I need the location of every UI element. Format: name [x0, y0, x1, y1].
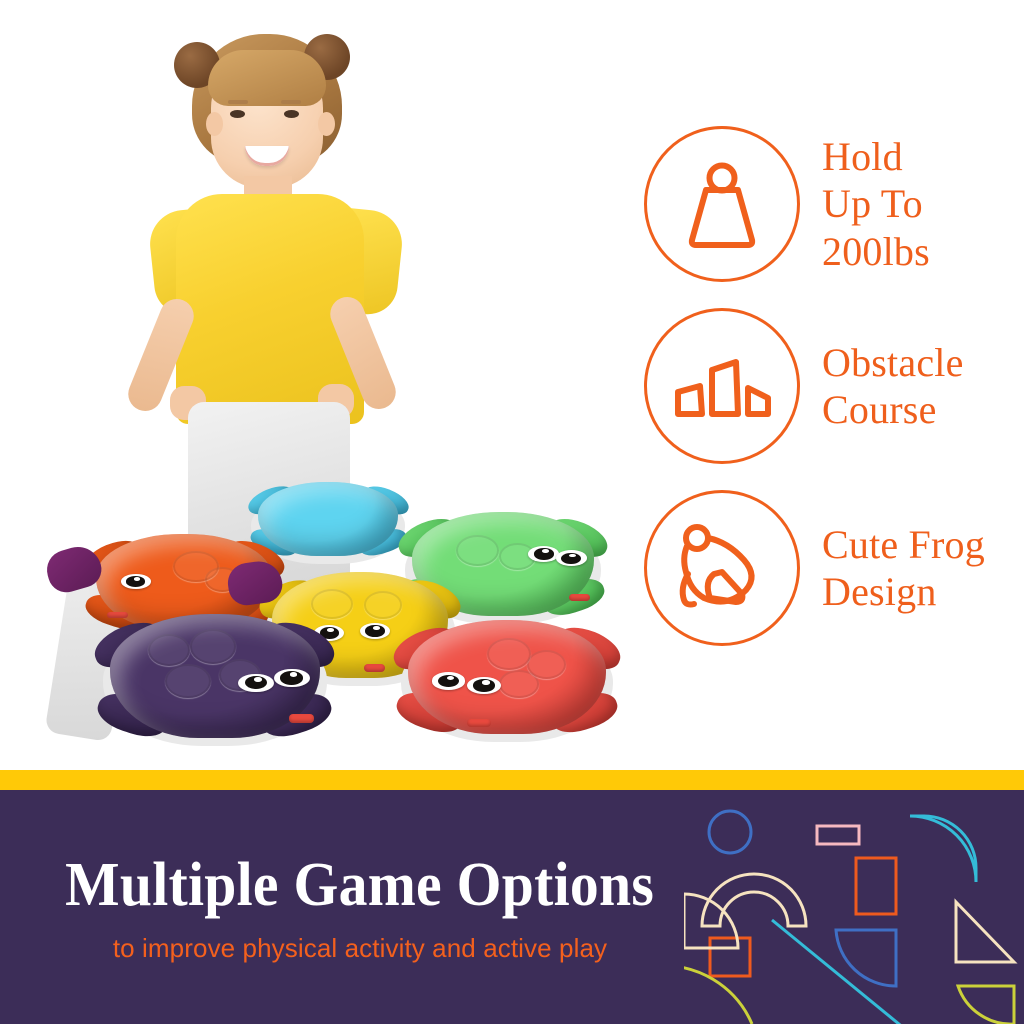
- rect-orange-icon: [856, 858, 896, 914]
- stepping-stone-red-frog: [408, 620, 606, 734]
- small-rect-pink-icon: [817, 826, 859, 844]
- feature-icon-circle: [644, 126, 800, 282]
- banner-text-block: Multiple Game Options to improve physica…: [0, 790, 720, 1024]
- feature-text-frog-design: Cute Frog Design: [822, 521, 985, 615]
- feature-line: Hold: [822, 133, 930, 180]
- yellow-divider-stripe: [0, 770, 1024, 790]
- decorative-shapes: [684, 790, 1024, 1024]
- frog-eye: [556, 550, 587, 566]
- frog-eye: [360, 623, 390, 639]
- diagonal-line-cyan-icon: [772, 920, 916, 1024]
- feature-item-obstacle: Obstacle Course: [644, 308, 1024, 464]
- product-feature-graphic: Hold Up To 200lbs Obstacle Course: [0, 0, 1024, 1024]
- quarter-circle-cream-icon: [956, 902, 1014, 962]
- frog-tongue: [467, 719, 491, 727]
- product-photo-area: Hold Up To 200lbs Obstacle Course: [0, 0, 1024, 770]
- obstacle-blocks-icon: [670, 334, 774, 438]
- feature-list: Hold Up To 200lbs Obstacle Course: [644, 126, 1024, 672]
- banner-subtitle: to improve physical activity and active …: [113, 933, 607, 964]
- frog-tongue: [364, 664, 385, 671]
- eyebrow-right: [281, 100, 301, 104]
- frog-eye: [467, 677, 501, 694]
- quarter-circle-olive-icon: [958, 986, 1014, 1024]
- feature-line: Course: [822, 386, 964, 433]
- feature-line: Obstacle: [822, 339, 964, 386]
- weight-icon: [670, 152, 774, 256]
- ear-left: [206, 112, 223, 136]
- frog-eye: [432, 672, 466, 689]
- bottom-banner: Multiple Game Options to improve physica…: [0, 790, 1024, 1024]
- feature-text-obstacle: Obstacle Course: [822, 339, 964, 433]
- hair-fringe: [208, 50, 326, 106]
- feature-line: 200lbs: [822, 228, 930, 275]
- feature-item-weight: Hold Up To 200lbs: [644, 126, 1024, 282]
- frog-eye: [238, 674, 274, 693]
- frog-eye: [121, 574, 151, 588]
- ear-right: [318, 112, 335, 136]
- feature-line: Up To: [822, 180, 930, 227]
- stepping-stone-cyan-frog: [258, 482, 398, 556]
- quarter-circle-cyan-icon: [910, 816, 976, 882]
- feature-icon-circle: [644, 490, 800, 646]
- frog-tongue: [569, 594, 591, 601]
- feature-line: Design: [822, 568, 985, 615]
- feature-line: Cute Frog: [822, 521, 985, 568]
- stepping-stone-purple-frog: [110, 614, 320, 738]
- frog-silhouette-icon: [670, 516, 774, 620]
- frog-eye: [274, 669, 310, 688]
- eyebrow-left: [228, 100, 248, 104]
- eye-right: [284, 110, 299, 118]
- feature-text-weight: Hold Up To 200lbs: [822, 133, 930, 275]
- feature-icon-circle: [644, 308, 800, 464]
- feature-item-frog-design: Cute Frog Design: [644, 490, 1024, 646]
- frog-tongue: [289, 714, 314, 723]
- quarter-circle-blue-icon: [836, 930, 896, 986]
- banner-headline: Multiple Game Options: [66, 850, 655, 921]
- eye-left: [230, 110, 245, 118]
